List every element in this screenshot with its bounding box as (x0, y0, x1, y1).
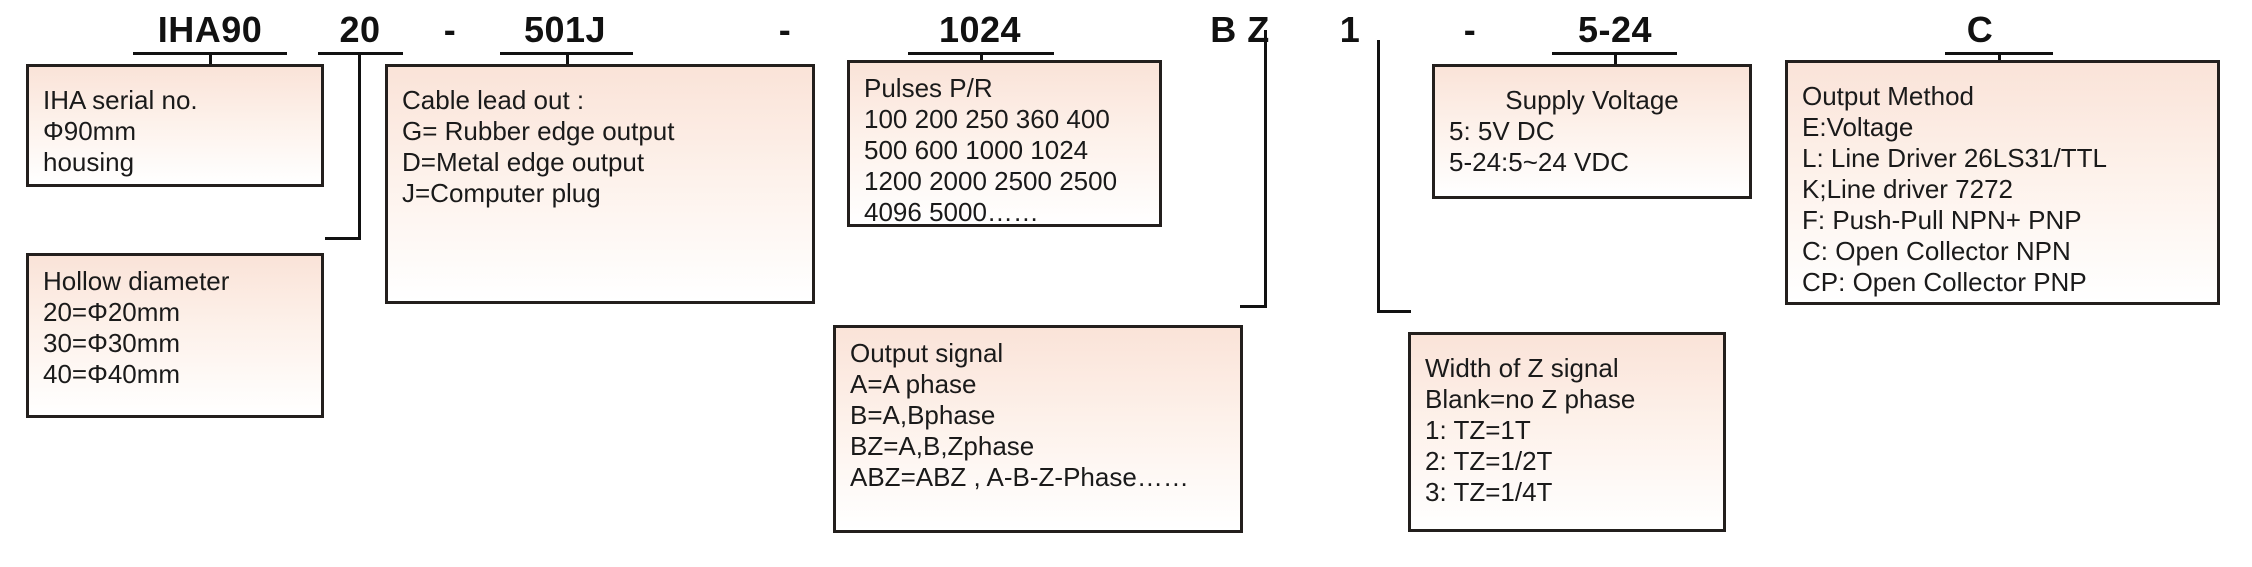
code-segment-separator-1: - (430, 10, 470, 50)
box-pulses-line: Pulses P/R (864, 73, 1145, 104)
leader-line-cable-lead-out (566, 52, 569, 64)
box-z-width: Width of Z signal Blank=no Z phase 1: TZ… (1408, 332, 1726, 532)
leader-elbow-output-signal (1240, 305, 1267, 308)
code-segment-hollow-diameter: 20 (320, 10, 400, 50)
box-series-line: housing (43, 147, 307, 178)
code-segment-cable-lead-out: 501J (500, 10, 630, 50)
box-hollow-diameter-line: 20=Φ20mm (43, 297, 307, 328)
box-output-method-line: E:Voltage (1802, 112, 2203, 143)
box-hollow-diameter-line: 40=Φ40mm (43, 359, 307, 390)
leader-line-output-method (1998, 52, 2001, 60)
box-pulses-line: 1200 2000 2500 2500 (864, 166, 1145, 197)
box-output-method-line: K;Line driver 7272 (1802, 174, 2203, 205)
leader-line-series (209, 52, 212, 64)
box-output-signal: Output signal A=A phase B=A,Bphase BZ=A,… (833, 325, 1243, 533)
box-series-line: Φ90mm (43, 116, 307, 147)
box-output-method-line: CP: Open Collector PNP (1802, 267, 2203, 298)
box-cable-lead-out-line: D=Metal edge output (402, 147, 798, 178)
box-series-line: IHA serial no. (43, 85, 307, 116)
box-output-method-line: C: Open Collector NPN (1802, 236, 2203, 267)
leader-line-hollow-diameter (358, 52, 361, 237)
box-pulses: Pulses P/R 100 200 250 360 400 500 600 1… (847, 60, 1162, 227)
box-cable-lead-out: Cable lead out : G= Rubber edge output D… (385, 64, 815, 304)
box-output-method-line: F: Push-Pull NPN+ PNP (1802, 205, 2203, 236)
code-segment-output-method: C (1940, 10, 2020, 50)
box-cable-lead-out-line: J=Computer plug (402, 178, 798, 209)
box-cable-lead-out-line: Cable lead out : (402, 85, 798, 116)
box-z-width-line: Blank=no Z phase (1425, 384, 1709, 415)
leader-line-pulses (980, 52, 983, 60)
model-number-designation-diagram: IHA90 20 - 501J - 1024 B Z 1 - 5-24 C IH… (0, 0, 2252, 567)
box-pulses-line: 100 200 250 360 400 (864, 104, 1145, 135)
box-output-signal-line: ABZ=ABZ , A-B-Z-Phase…… (850, 462, 1226, 493)
box-series: IHA serial no. Φ90mm housing (26, 64, 324, 187)
box-z-width-line: 1: TZ=1T (1425, 415, 1709, 446)
code-segment-output-signal: B Z (1190, 10, 1290, 50)
box-z-width-line: 2: TZ=1/2T (1425, 446, 1709, 477)
box-output-signal-line: A=A phase (850, 369, 1226, 400)
box-output-signal-line: BZ=A,B,Zphase (850, 431, 1226, 462)
box-pulses-line: 500 600 1000 1024 (864, 135, 1145, 166)
box-supply-voltage: Supply Voltage 5: 5V DC 5-24:5~24 VDC (1432, 64, 1752, 199)
box-output-method-line: Output Method (1802, 81, 2203, 112)
code-segment-pulses: 1024 (910, 10, 1050, 50)
box-pulses-line: 4096 5000…… (864, 197, 1145, 228)
leader-elbow-hollow-diameter (325, 237, 361, 240)
box-hollow-diameter-line: Hollow diameter (43, 266, 307, 297)
box-output-method-line: L: Line Driver 26LS31/TTL (1802, 143, 2203, 174)
box-z-width-line: Width of Z signal (1425, 353, 1709, 384)
code-segment-separator-3: - (1450, 10, 1490, 50)
box-output-signal-line: Output signal (850, 338, 1226, 369)
leader-elbow-z-width (1377, 310, 1411, 313)
box-z-width-line: 3: TZ=1/4T (1425, 477, 1709, 508)
box-output-signal-line: B=A,Bphase (850, 400, 1226, 431)
leader-line-z-width (1377, 40, 1380, 310)
box-output-method: Output Method E:Voltage L: Line Driver 2… (1785, 60, 2220, 305)
code-segment-series: IHA90 (130, 10, 290, 50)
leader-line-output-signal (1264, 30, 1267, 305)
box-supply-voltage-line: 5-24:5~24 VDC (1449, 147, 1735, 178)
box-supply-voltage-line: Supply Voltage (1449, 85, 1735, 116)
code-segment-supply-voltage: 5-24 (1545, 10, 1685, 50)
box-cable-lead-out-line: G= Rubber edge output (402, 116, 798, 147)
leader-line-supply-voltage (1614, 52, 1617, 64)
code-segment-z-width: 1 (1330, 10, 1370, 50)
code-segment-separator-2: - (765, 10, 805, 50)
box-supply-voltage-line: 5: 5V DC (1449, 116, 1735, 147)
box-hollow-diameter: Hollow diameter 20=Φ20mm 30=Φ30mm 40=Φ40… (26, 253, 324, 418)
box-hollow-diameter-line: 30=Φ30mm (43, 328, 307, 359)
